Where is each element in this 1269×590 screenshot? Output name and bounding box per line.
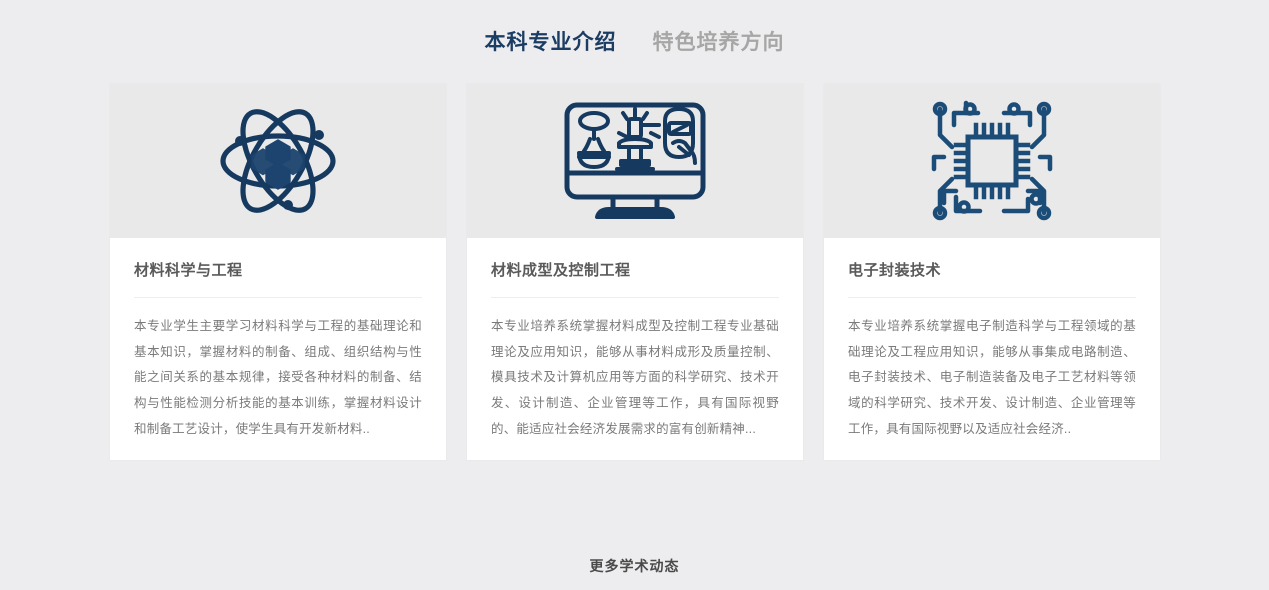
card-description: 本专业学生主要学习材料科学与工程的基础理论和基本知识，掌握材料的制备、组成、组织… <box>134 314 422 442</box>
card-media <box>110 84 446 238</box>
card-title: 电子封装技术 <box>848 260 1136 281</box>
card-divider <box>134 297 422 298</box>
major-card-list: 材料科学与工程 本专业学生主要学习材料科学与工程的基础理论和基本知识，掌握材料的… <box>110 84 1160 460</box>
card-body: 材料成型及控制工程 本专业培养系统掌握材料成型及控制工程专业基础理论及应用知识，… <box>467 238 803 460</box>
microchip-circuit-icon <box>926 95 1058 227</box>
tab-featured-training-directions[interactable]: 特色培养方向 <box>649 30 789 55</box>
tab-undergraduate-majors[interactable]: 本科专业介绍 <box>481 30 621 55</box>
major-card[interactable]: 电子封装技术 本专业培养系统掌握电子制造科学与工程领域的基础理论及工程应用知识，… <box>824 84 1160 460</box>
more-academic-news-link[interactable]: 更多学术动态 <box>0 556 1269 576</box>
card-divider <box>848 297 1136 298</box>
card-description: 本专业培养系统掌握电子制造科学与工程领域的基础理论及工程应用知识，能够从事集成电… <box>848 314 1136 442</box>
card-media <box>467 84 803 238</box>
card-title: 材料成型及控制工程 <box>491 260 779 281</box>
manufacturing-monitor-icon <box>561 95 709 227</box>
page-root: 本科专业介绍 特色培养方向 <box>0 0 1269 590</box>
card-body: 材料科学与工程 本专业学生主要学习材料科学与工程的基础理论和基本知识，掌握材料的… <box>110 238 446 460</box>
card-description: 本专业培养系统掌握材料成型及控制工程专业基础理论及应用知识，能够从事材料成形及质… <box>491 314 779 442</box>
card-divider <box>491 297 779 298</box>
card-media <box>824 84 1160 238</box>
major-card[interactable]: 材料科学与工程 本专业学生主要学习材料科学与工程的基础理论和基本知识，掌握材料的… <box>110 84 446 460</box>
section-tabs: 本科专业介绍 特色培养方向 <box>0 0 1269 84</box>
atom-icon <box>212 95 344 227</box>
card-body: 电子封装技术 本专业培养系统掌握电子制造科学与工程领域的基础理论及工程应用知识，… <box>824 238 1160 460</box>
card-title: 材料科学与工程 <box>134 260 422 281</box>
major-card[interactable]: 材料成型及控制工程 本专业培养系统掌握材料成型及控制工程专业基础理论及应用知识，… <box>467 84 803 460</box>
